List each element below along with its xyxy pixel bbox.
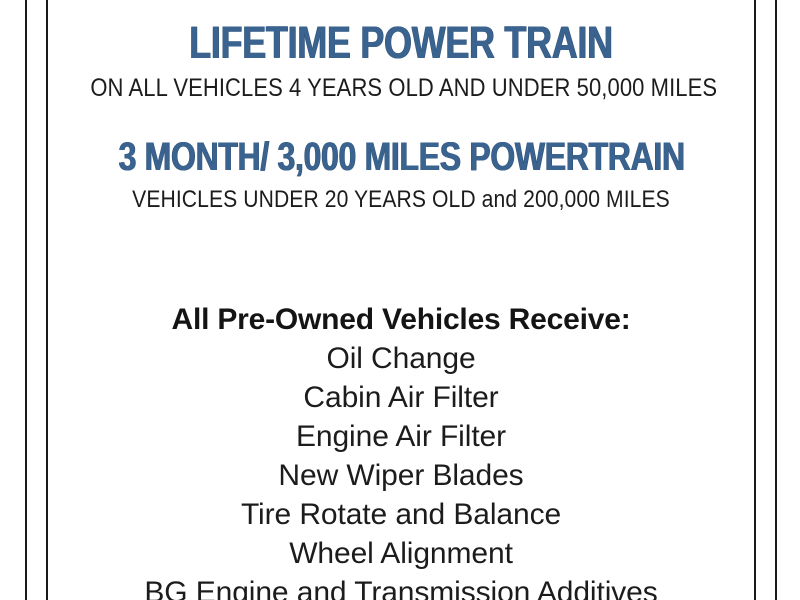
border-rule-right-inner (754, 0, 756, 600)
service-item: Oil Change (48, 339, 754, 378)
service-item: Engine Air Filter (48, 417, 754, 456)
service-item: BG Engine and Transmission Additives (48, 573, 754, 600)
services-list: Oil Change Cabin Air Filter Engine Air F… (48, 339, 754, 600)
warranty-block-lifetime: LIFETIME POWER TRAIN ON ALL VEHICLES 4 Y… (48, 18, 754, 103)
service-item: New Wiper Blades (48, 456, 754, 495)
services-heading: All Pre-Owned Vehicles Receive: (48, 300, 754, 339)
warranty-headline-lifetime: LIFETIME POWER TRAIN (119, 18, 684, 68)
service-item: Cabin Air Filter (48, 378, 754, 417)
service-item: Wheel Alignment (48, 534, 754, 573)
service-item: Tire Rotate and Balance (48, 495, 754, 534)
border-rule-right-outer (775, 0, 777, 600)
warranty-headline-three-month: 3 MONTH/ 3,000 MILES POWERTRAIN (119, 134, 684, 180)
warranty-subtext-three-month: VEHICLES UNDER 20 YEARS OLD and 200,000 … (90, 180, 711, 214)
flyer-content: LIFETIME POWER TRAIN ON ALL VEHICLES 4 Y… (48, 0, 754, 600)
flyer-page: LIFETIME POWER TRAIN ON ALL VEHICLES 4 Y… (0, 0, 800, 600)
services-section: All Pre-Owned Vehicles Receive: Oil Chan… (48, 300, 754, 600)
border-rule-left-outer (25, 0, 27, 600)
warranty-subtext-lifetime: ON ALL VEHICLES 4 YEARS OLD AND UNDER 50… (90, 68, 711, 103)
warranty-block-three-month: 3 MONTH/ 3,000 MILES POWERTRAIN VEHICLES… (48, 134, 754, 214)
